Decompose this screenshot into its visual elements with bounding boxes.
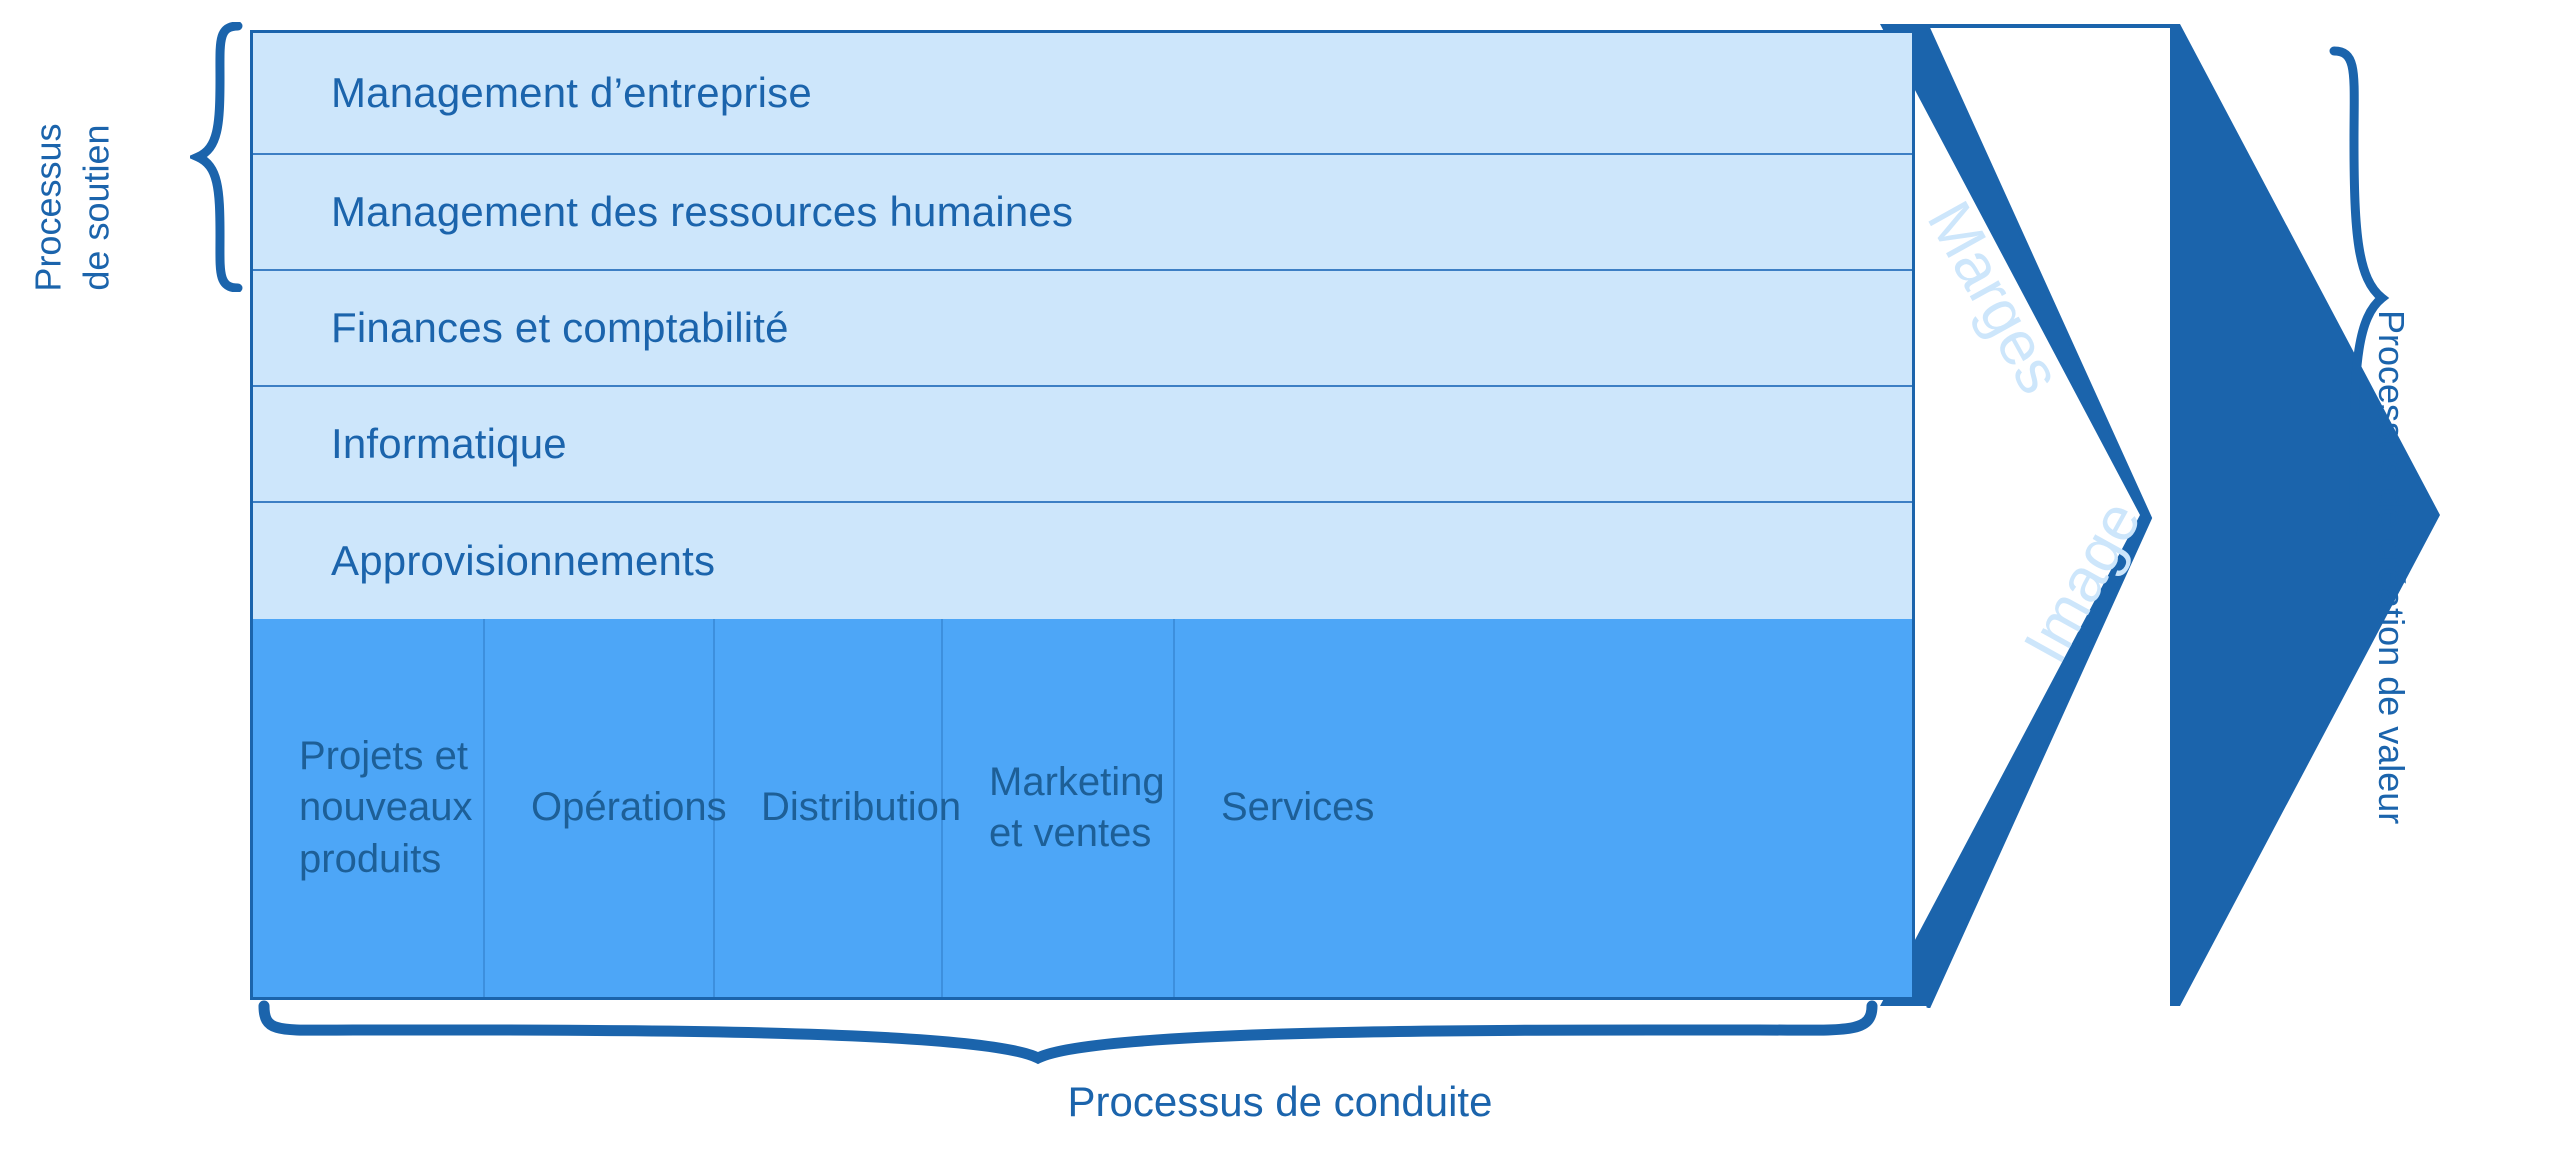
value-chain-diagram: Processus de soutien Marges Image Manage… (0, 0, 2560, 1168)
primary-cell-services[interactable]: Services (1175, 619, 1912, 997)
conduite-processes-brace (258, 1000, 1878, 1070)
support-row-label: Finances et comptabilité (253, 304, 789, 352)
primary-processes-band: Projets et nouveaux produits Opérations … (253, 619, 1912, 997)
primary-cell-label: Distribution (715, 782, 971, 833)
primary-cell-line1: Marketing (989, 757, 1165, 808)
chain-right-notch-mask (1850, 28, 2170, 1008)
support-processes-group-label: Processus de soutien (24, 78, 119, 338)
support-row-approvisionnements[interactable]: Approvisionnements (253, 503, 1912, 619)
primary-cell-distribution[interactable]: Distribution (715, 619, 943, 997)
primary-cell-line1: Opérations (531, 782, 727, 833)
support-processes-brace (190, 22, 250, 292)
support-row-label: Informatique (253, 420, 567, 468)
support-row-label: Management d’entreprise (253, 69, 812, 117)
support-row-label: Management des ressources humaines (253, 188, 1073, 236)
primary-cell-label: Services (1175, 782, 1384, 833)
primary-cell-projets-nouveaux-produits[interactable]: Projets et nouveaux produits (253, 619, 485, 997)
primary-cell-label: Opérations (485, 782, 737, 833)
support-row-management-entreprise[interactable]: Management d’entreprise (253, 33, 1912, 155)
value-chain-table: Management d’entreprise Management des r… (250, 30, 1915, 1000)
support-row-finances-comptabilite[interactable]: Finances et comptabilité (253, 271, 1912, 387)
support-group-label-line1: Processus (24, 78, 72, 338)
primary-cell-line2: nouveaux (299, 782, 472, 833)
primary-cell-operations[interactable]: Opérations (485, 619, 715, 997)
primary-cell-label: Marketing et ventes (943, 757, 1175, 859)
support-group-label-line2: de soutien (72, 78, 120, 338)
primary-cell-line1: Distribution (761, 782, 961, 833)
primary-cell-line2: et ventes (989, 808, 1165, 859)
primary-cell-marketing-ventes[interactable]: Marketing et ventes (943, 619, 1175, 997)
support-row-ressources-humaines[interactable]: Management des ressources humaines (253, 155, 1912, 271)
value-creation-group-label: Processus de création de valeur (2370, 310, 2412, 824)
primary-cell-line3: produits (299, 834, 472, 885)
primary-cell-line1: Projets et (299, 731, 472, 782)
support-row-label: Approvisionnements (253, 537, 715, 585)
primary-cell-label: Projets et nouveaux produits (253, 731, 482, 885)
primary-cell-line1: Services (1221, 782, 1374, 833)
support-row-informatique[interactable]: Informatique (253, 387, 1912, 503)
primary-processes-group-label: Processus de conduite (0, 1078, 2560, 1126)
